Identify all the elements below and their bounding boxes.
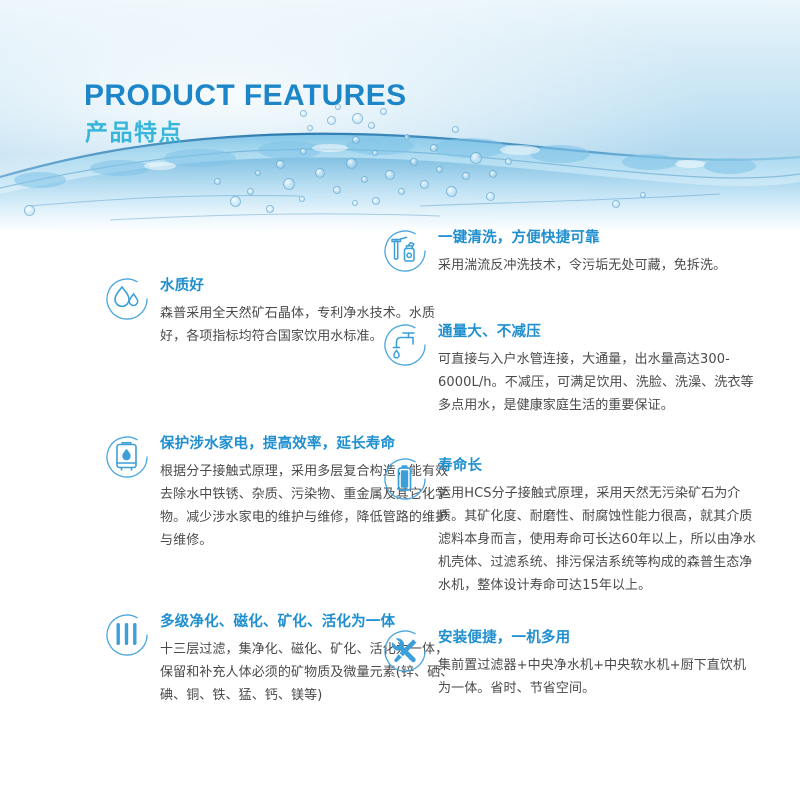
feature-text: 采用湍流反冲洗技术，令污垢无处可藏，免拆洗。: [438, 254, 758, 277]
battery-icon: [382, 456, 428, 502]
tools-icon: [382, 628, 428, 674]
three-bars-icon: [104, 612, 150, 658]
spray-bottle-icon: [382, 228, 428, 274]
feature-heading: 水质好: [160, 276, 460, 296]
feature-text: 运用HCS分子接触式原理，采用天然无污染矿石为介质。其矿化度、耐磨性、耐腐蚀性能…: [438, 482, 758, 597]
feature-heading: 寿命长: [438, 456, 758, 476]
water-drops-icon: [104, 276, 150, 322]
feature-text: 可直接与入户水管连接，大通量，出水量高达300-6000L/h。不减压，可满足饮…: [438, 348, 758, 417]
feature-heading: 保护涉水家电，提高效率，延长寿命: [160, 434, 460, 454]
feature-text: 森普采用全天然矿石晶体，专利净水技术。水质好，各项指标均符合国家饮用水标准。: [160, 302, 460, 348]
feature-heading: 一键清洗，方便快捷可靠: [438, 228, 758, 248]
feature-heading: 通量大、不减压: [438, 322, 758, 342]
product-features-page: PRODUCT FEATURES 产品特点: [0, 0, 800, 810]
feature-text: 集前置过滤器+中央净水机+中央软水机+厨下直饮机为一体。省时、节省空间。: [438, 654, 758, 700]
water-heater-icon: [104, 434, 150, 480]
feature-heading: 安装便捷，一机多用: [438, 628, 758, 648]
feature-list: 一键清洗，方便快捷可靠 采用湍流反冲洗技术，令污垢无处可藏，免拆洗。: [0, 0, 800, 810]
